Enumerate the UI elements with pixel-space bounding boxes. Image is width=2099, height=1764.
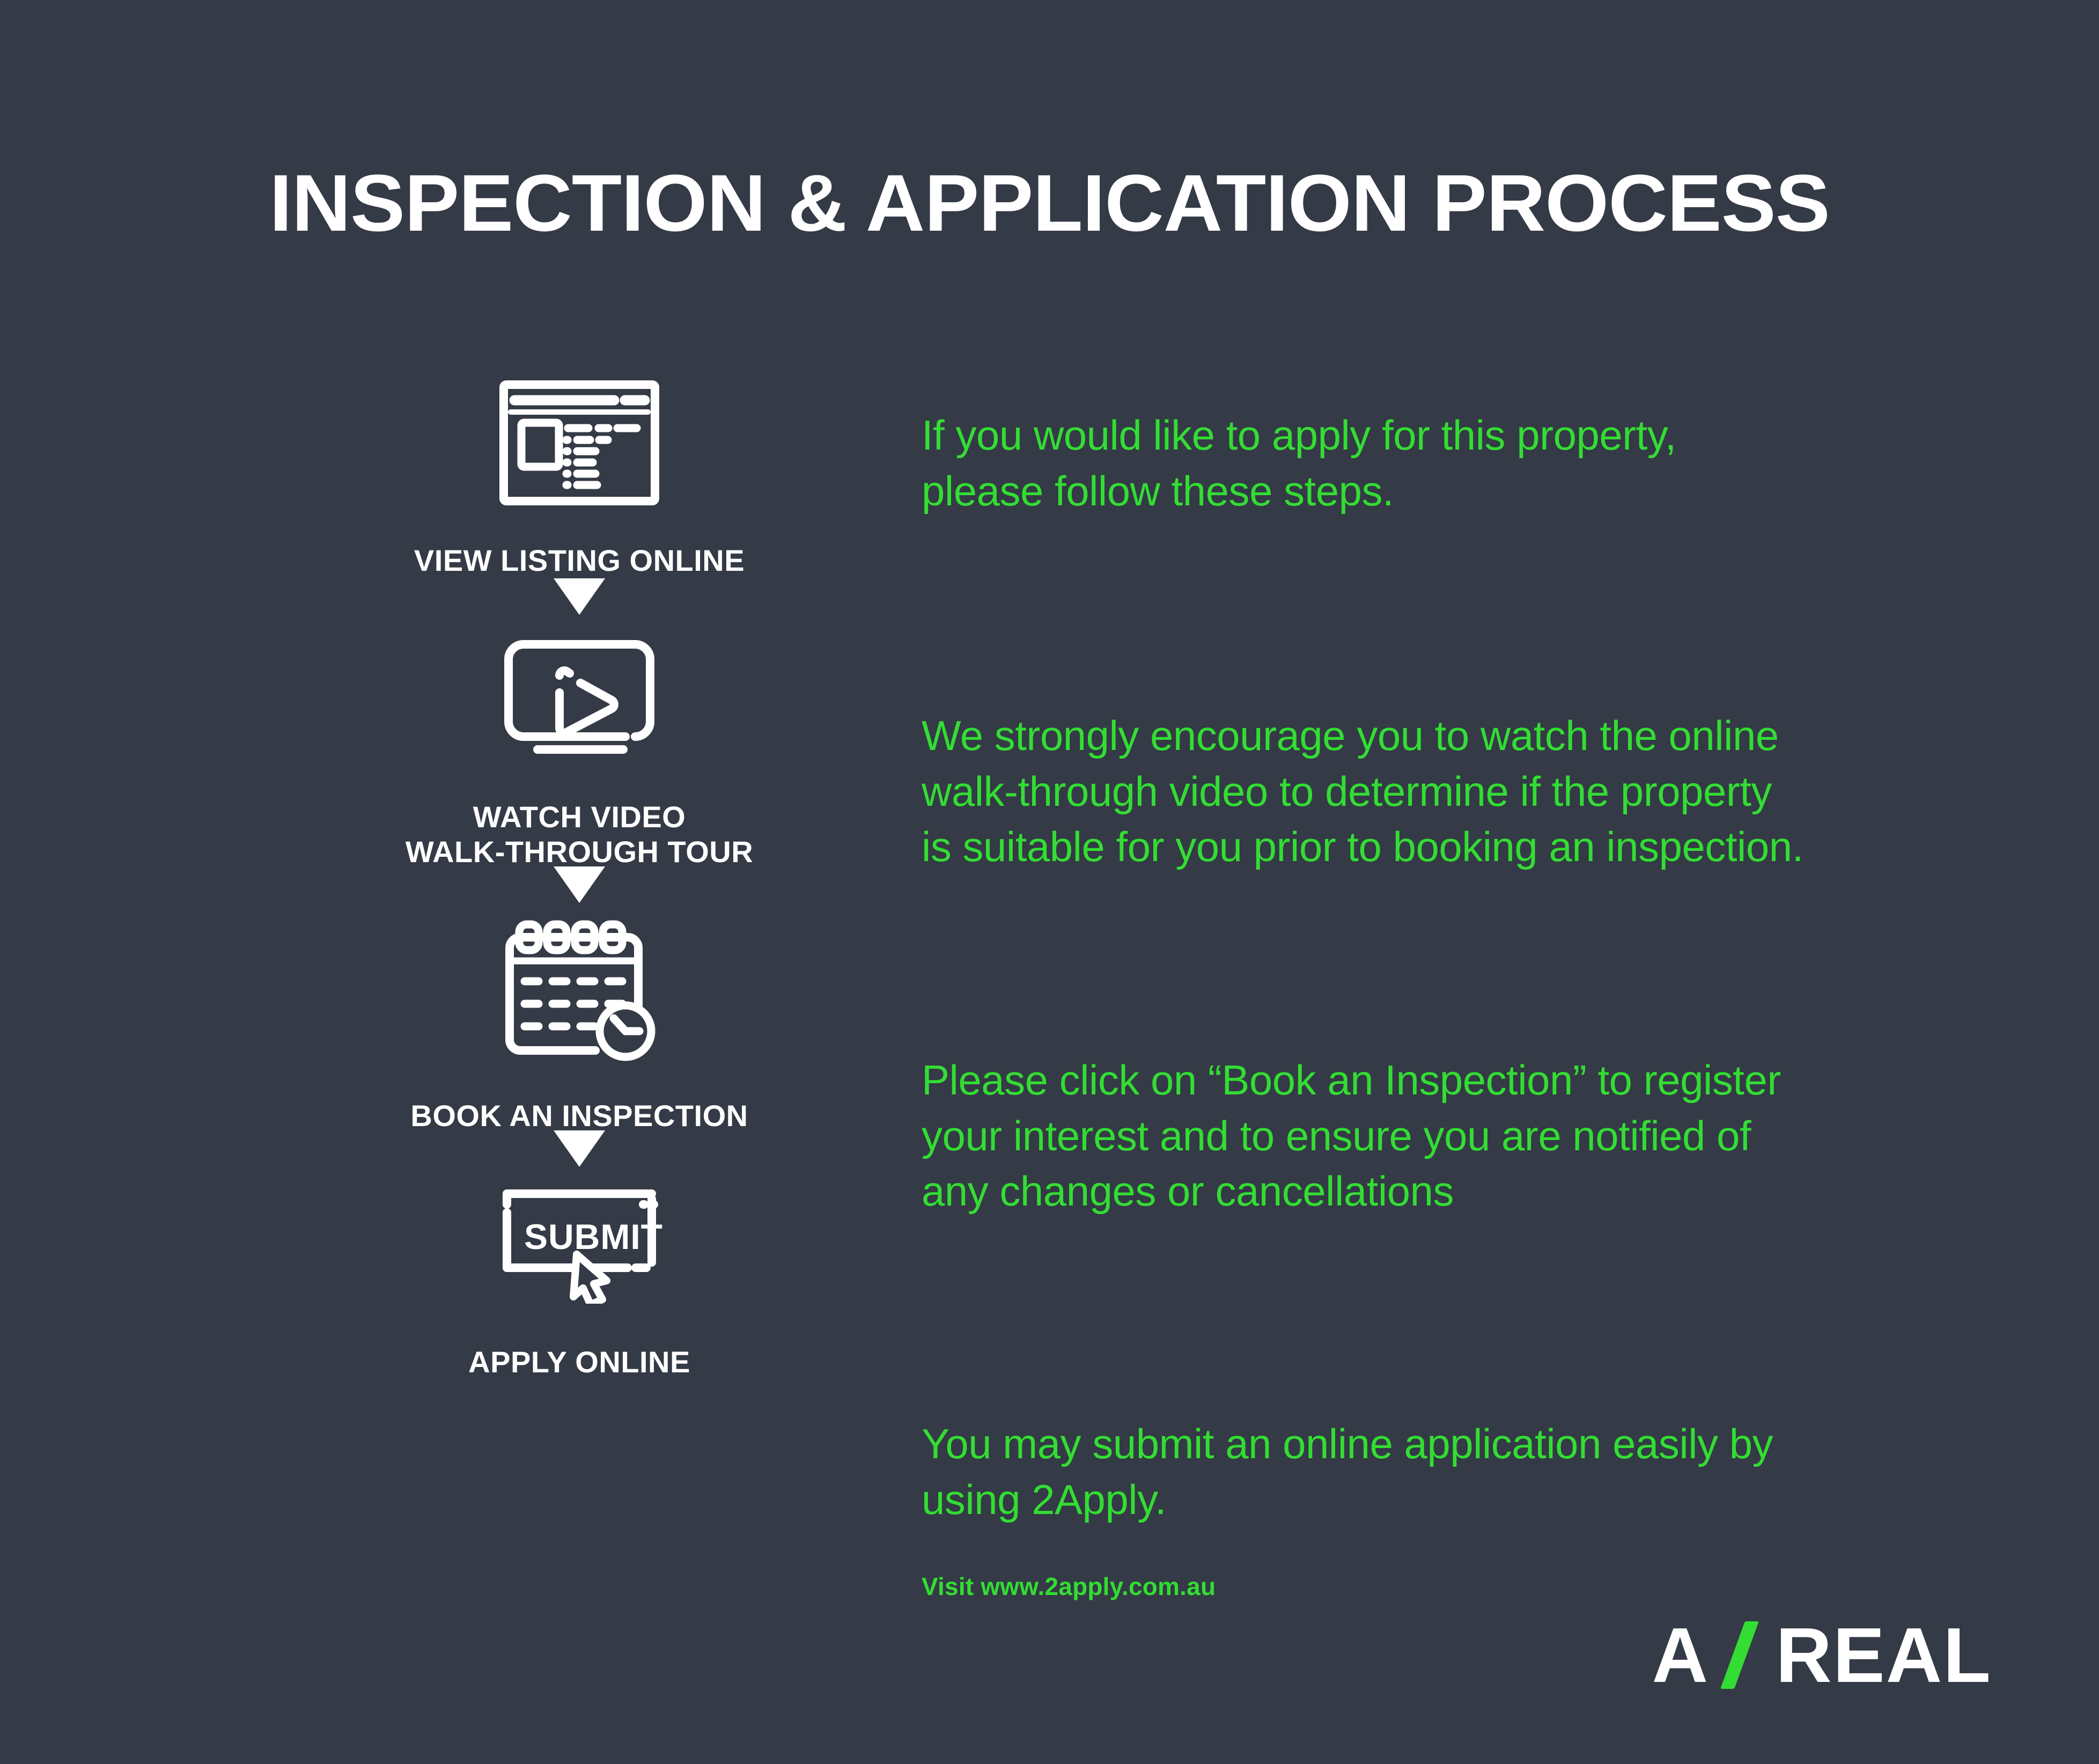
green-slash-icon [1717,1623,1768,1687]
step-label: VIEW LISTING ONLINE [343,543,815,578]
poster-canvas: INSPECTION & APPLICATION PROCESS [0,0,2099,1764]
submit-button-cursor-icon: SUBMIT [343,1164,815,1320]
svg-text:SUBMIT: SUBMIT [524,1217,663,1256]
calendar-clock-icon [343,900,815,1082]
step-copy-apply-online: You may submit an online application eas… [922,1416,1973,1527]
triangle-down-icon [343,870,815,900]
video-play-monitor-icon [343,615,815,776]
step-copy-book-inspection: Please click on “Book an Inspection” to … [922,1053,1973,1219]
step-apply-online[interactable]: SUBMIT APPLY ONLINE [343,1164,815,1380]
step-copy-view-listing: If you would like to apply for this prop… [922,408,1973,519]
step-view-listing-online[interactable]: VIEW LISTING ONLINE [343,354,815,578]
step-copy-watch-video: We strongly encourage you to watch the o… [922,708,2000,875]
triangle-down-icon [343,578,815,615]
process-steps-column: VIEW LISTING ONLINE WATCH VIDEO WALK-THR… [343,354,815,1380]
step-label: BOOK AN INSPECTION [343,1098,815,1134]
page-title: INSPECTION & APPLICATION PROCESS [0,157,2099,249]
logo-letter-a: A [1652,1616,1710,1694]
step-label: APPLY ONLINE [343,1344,815,1380]
step-label: WATCH VIDEO WALK-THROUGH TOUR [343,799,815,870]
visit-2apply-link[interactable]: Visit www.2apply.com.au [922,1572,1216,1601]
areal-logo[interactable]: A REAL [1652,1615,1992,1695]
logo-word-real: REAL [1776,1616,1992,1694]
triangle-down-icon [343,1133,815,1164]
listing-window-icon [343,354,815,531]
step-watch-video-walkthrough[interactable]: WATCH VIDEO WALK-THROUGH TOUR [343,615,815,870]
step-book-an-inspection[interactable]: BOOK AN INSPECTION [343,900,815,1134]
